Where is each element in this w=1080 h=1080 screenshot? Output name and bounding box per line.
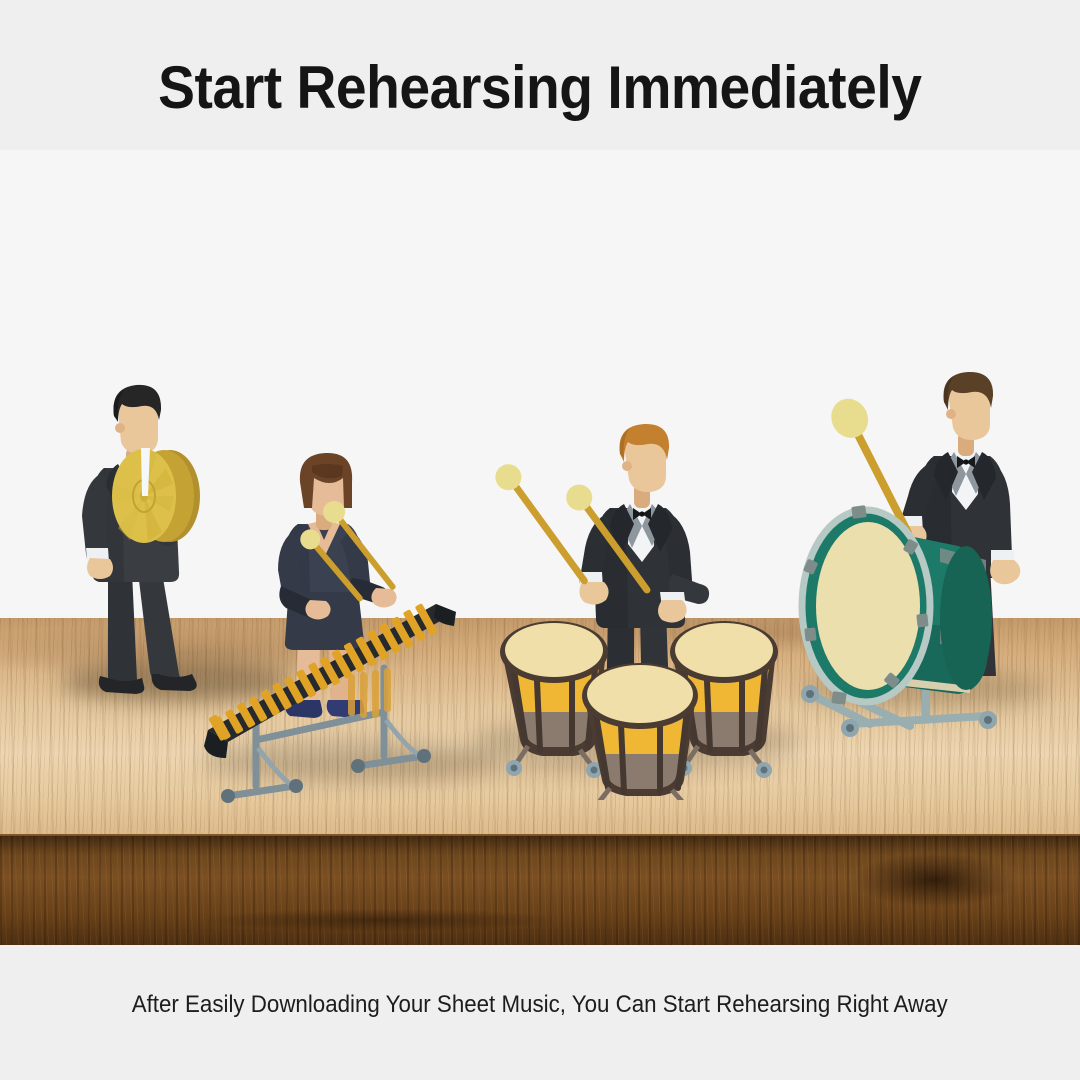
xylophone-graphic <box>198 590 468 820</box>
timpani-mallets <box>490 442 690 622</box>
instrument-timpani-drums[interactable] <box>484 600 794 800</box>
page-title: Start Rehearsing Immediately <box>158 56 921 119</box>
instrument-xylophone[interactable] <box>198 590 468 820</box>
page-caption: After Easily Downloading Your Sheet Musi… <box>132 991 948 1019</box>
stage-front-edge <box>0 836 1080 945</box>
title-container: Start Rehearsing Immediately <box>0 56 1080 119</box>
caption-container: After Easily Downloading Your Sheet Musi… <box>0 991 1080 1019</box>
timpani-center <box>582 663 698 800</box>
poster-canvas: Start Rehearsing Immediately <box>0 0 1080 1080</box>
crash-cymbals-graphic <box>100 440 210 550</box>
timpani-mallets-graphic <box>490 442 690 622</box>
illustration-scene <box>0 150 1080 950</box>
instrument-bass-drum[interactable] <box>790 480 1040 750</box>
bass-drum-graphic <box>790 480 1040 750</box>
instrument-crash-cymbals[interactable] <box>100 440 210 550</box>
timpani-drums-graphic <box>484 600 794 800</box>
